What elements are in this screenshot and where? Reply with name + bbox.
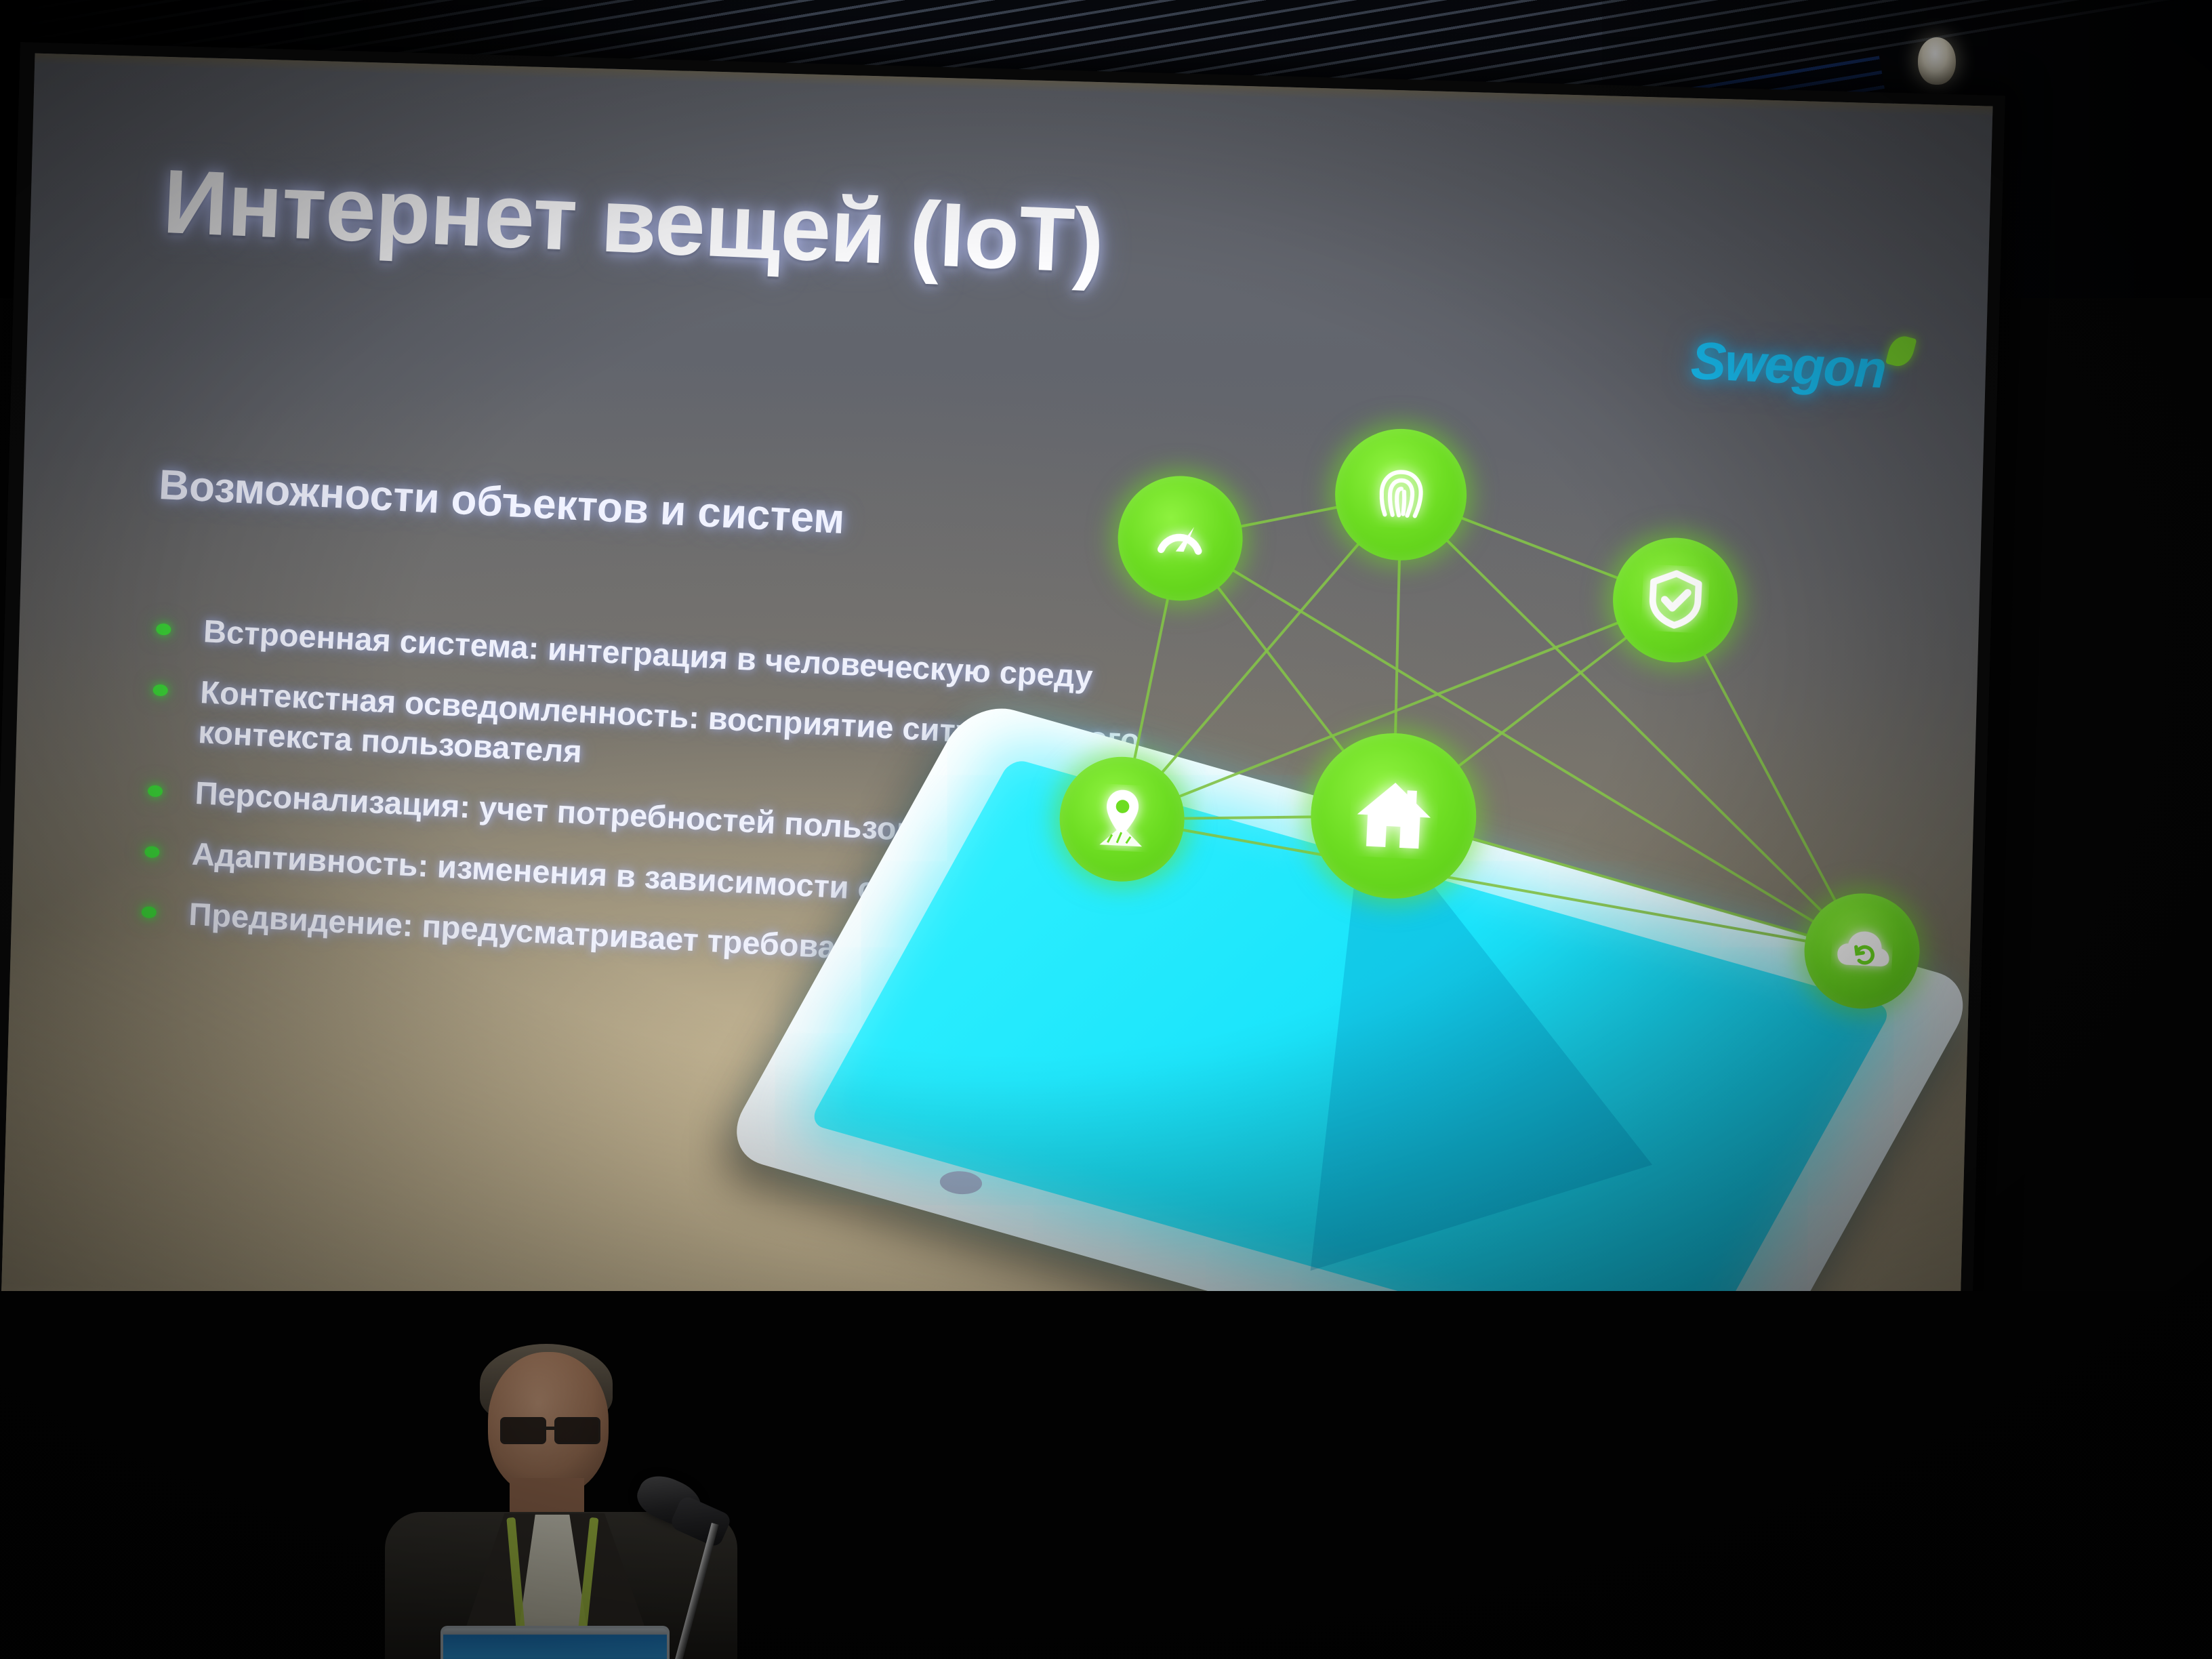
iot-network-diagram [1022,438,1971,1354]
fingerprint-icon [1364,457,1437,533]
ceiling-spot-light-icon [1918,37,1956,85]
lens-left [500,1417,546,1444]
gauge-icon [1145,502,1215,575]
projection-screen: Интернет вещей (IoT) Swegon Возможности … [0,42,2005,1370]
photo-scene: Интернет вещей (IoT) Swegon Возможности … [0,0,2212,1659]
glasses-icon [500,1417,602,1441]
swegon-wordmark: Swegon [1689,329,1887,401]
leaf-icon [1885,333,1917,369]
slide-subtitle: Возможности объектов и систем [158,461,846,544]
slide: Интернет вещей (IoT) Swegon Возможности … [1,54,1993,1354]
cloud-sync-icon [1830,918,1893,985]
presenter [352,1352,773,1659]
glasses-bridge [542,1427,556,1430]
bullet-dot-icon [152,684,168,696]
swegon-logo: Swegon [1689,329,1914,402]
bullet-dot-icon [141,906,157,918]
bullet-dot-icon [144,846,160,858]
lens-right [554,1417,600,1444]
screen-surface: Интернет вещей (IoT) Swegon Возможности … [1,54,1993,1354]
dark-hall-area [0,1291,2212,1659]
slide-title: Интернет вещей (IoT) [161,150,1106,293]
location-pin-icon [1087,783,1157,856]
laptop [441,1626,670,1659]
home-icon [1348,769,1439,863]
shield-check-icon [1641,564,1711,637]
bullet-dot-icon [148,785,163,797]
bullet-dot-icon [156,623,171,636]
